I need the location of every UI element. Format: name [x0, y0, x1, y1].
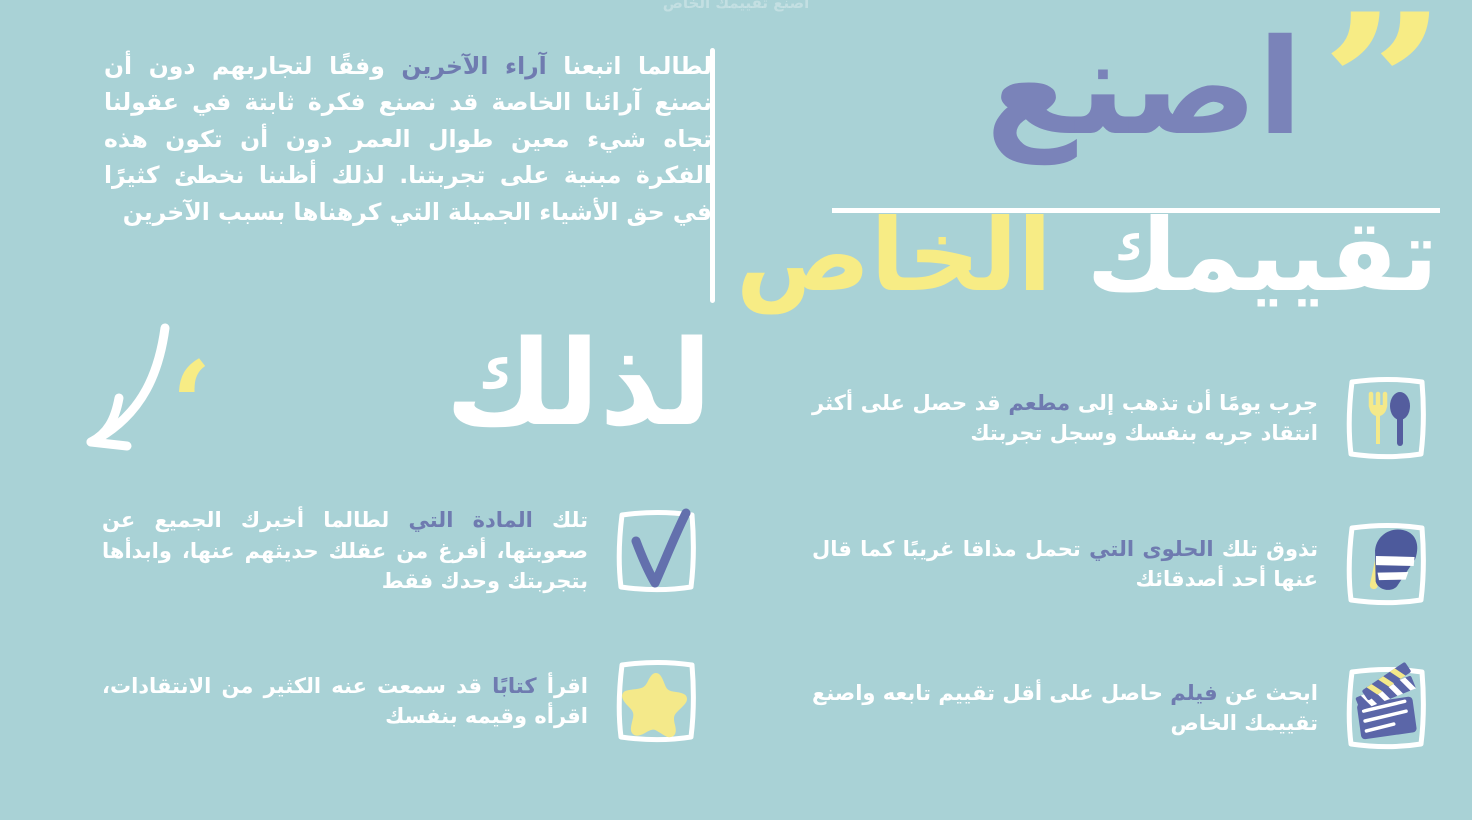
item-text-before: تلك	[533, 508, 588, 532]
section-heading-text: لذلك	[445, 324, 712, 442]
item-text-before: اقرأ	[537, 674, 588, 698]
list-item-subject[interactable]: تلك المادة التي لطالما أخبرك الجميع عن ص…	[102, 505, 702, 597]
hero-word-alkhas: الخاص	[736, 197, 1052, 314]
hero-title-block: ” اصنع تقييمك الخاص	[802, 22, 1442, 312]
popsicle-icon	[1340, 518, 1432, 610]
item-text-accent: مطعم	[1008, 391, 1070, 415]
intro-paragraph: لطالما اتبعنا آراء الآخرين وفقًا لتجاربه…	[104, 48, 712, 230]
item-text-accent: فيلم	[1170, 681, 1217, 705]
list-item-subject-text: تلك المادة التي لطالما أخبرك الجميع عن ص…	[102, 505, 588, 596]
list-item-book[interactable]: اقرأ كتابًا قد سمعت عنه الكثير من الانتق…	[102, 655, 702, 747]
section-comma-mark-icon: ‘	[171, 370, 212, 441]
list-item-restaurant[interactable]: جرب يومًا أن تذهب إلى مطعم قد حصل على أك…	[812, 372, 1432, 464]
item-text-before: تذوق تلك	[1214, 537, 1318, 561]
intro-text-part-1: لطالما اتبعنا	[547, 52, 712, 80]
list-item-restaurant-text: جرب يومًا أن تذهب إلى مطعم قد حصل على أك…	[812, 388, 1318, 449]
hero-word-taqyeemak: تقييمك	[1087, 197, 1438, 314]
list-item-dessert[interactable]: تذوق تلك الحلوى التي تحمل مذاقا غريبًا ك…	[812, 518, 1432, 610]
hero-second-line: تقييمك الخاص	[736, 198, 1438, 313]
list-item-movie-text: ابحث عن فيلم حاصل على أقل تقييم تابعه وا…	[812, 678, 1318, 739]
quote-mark-icon: ”	[1321, 16, 1447, 153]
list-item-dessert-text: تذوق تلك الحلوى التي تحمل مذاقا غريبًا ك…	[812, 534, 1318, 595]
list-item-book-text: اقرأ كتابًا قد سمعت عنه الكثير من الانتق…	[102, 671, 588, 732]
hero-first-line: ” اصنع	[986, 22, 1442, 154]
curved-down-arrow-icon	[27, 320, 177, 460]
section-heading-block: لذلك ‘	[102, 330, 712, 470]
clapperboard-icon	[1340, 662, 1432, 754]
item-text-accent: كتابًا	[492, 674, 536, 698]
hero-word-isna: اصنع	[986, 22, 1303, 154]
checkmark-icon	[610, 505, 702, 597]
infographic-canvas: اصنع تقييمك الخاص ” اصنع تقييمك الخاص لط…	[0, 0, 1472, 820]
star-icon	[610, 655, 702, 747]
fork-and-spoon-icon	[1340, 372, 1432, 464]
item-text-accent: المادة التي	[408, 508, 532, 532]
item-text-before: ابحث عن	[1218, 681, 1318, 705]
list-item-movie[interactable]: ابحث عن فيلم حاصل على أقل تقييم تابعه وا…	[812, 662, 1432, 754]
item-text-accent: الحلوى التي	[1089, 537, 1213, 561]
item-text-before: جرب يومًا أن تذهب إلى	[1070, 391, 1318, 415]
intro-text-accent: آراء الآخرين	[401, 52, 546, 80]
